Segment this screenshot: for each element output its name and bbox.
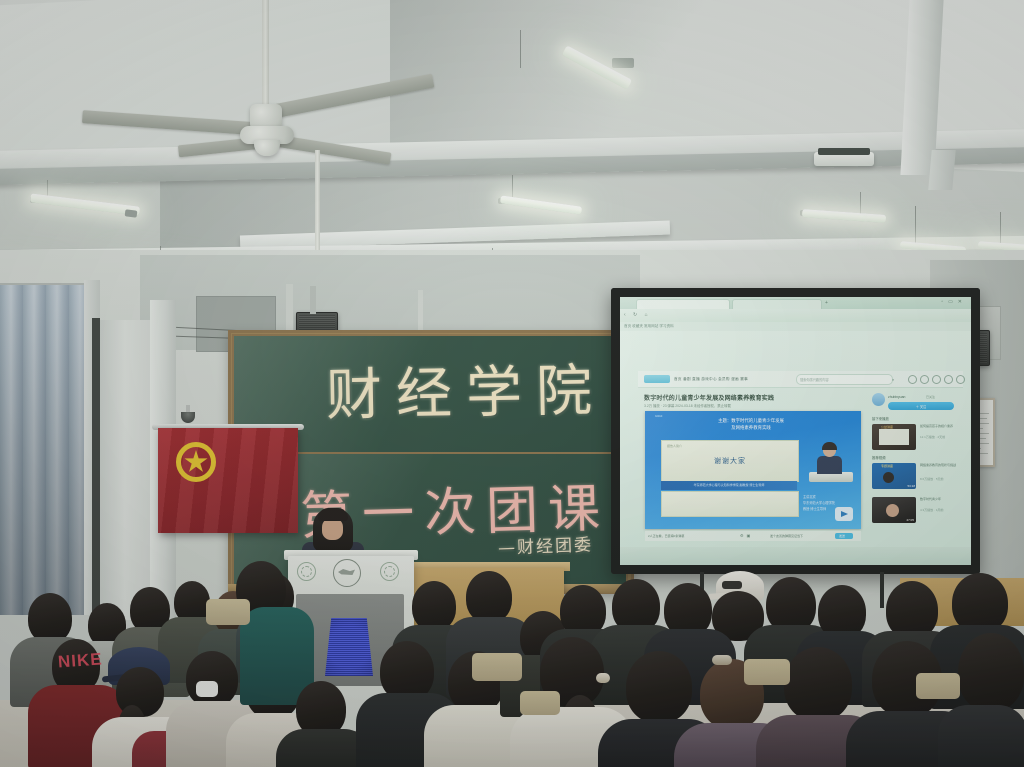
ceiling-panel-light-housing bbox=[818, 148, 870, 155]
audience-head bbox=[958, 633, 1024, 711]
presenter-face bbox=[322, 518, 343, 540]
bookmarks-text: 首页 收藏夹 常用网站 学习资料 bbox=[624, 324, 674, 329]
face-mask bbox=[196, 681, 218, 697]
bilibili-nav[interactable]: 首页 番剧 直播 游戏中心 会员购 漫画 赛事 bbox=[674, 377, 748, 382]
browser-tab-bar: + ▫▭✕ bbox=[620, 297, 971, 309]
cyl-flag bbox=[158, 428, 298, 533]
classroom-photo-scene: 使用须知 财经学院 第一次团课 —财经团委 bbox=[0, 0, 1024, 767]
audience-head bbox=[626, 651, 692, 723]
related-meta-1: 12.1万播放 · 2天前 bbox=[920, 435, 964, 439]
search-placeholder: 搜索你感兴趣的内容 bbox=[800, 377, 829, 382]
video-player[interactable]: bilibili 主题：数字时代的儿童青少年发展 及网络素养教育实践 报告人简介… bbox=[645, 411, 861, 529]
danmaku-settings-icon[interactable]: ⚙▣ bbox=[740, 533, 753, 538]
slide-speaker-photo bbox=[805, 441, 855, 491]
bookmarks-bar: 首页 收藏夹 常用网站 学习资料 bbox=[620, 322, 971, 331]
video-title: 数字时代的儿童青少年发展及网络素养教育实践 bbox=[644, 393, 774, 402]
hoodie-logo-text: NIKE bbox=[57, 649, 103, 672]
message-icon[interactable] bbox=[908, 375, 917, 384]
audience-head bbox=[412, 581, 456, 631]
favorites-icon[interactable] bbox=[932, 375, 941, 384]
audience-head bbox=[380, 641, 434, 701]
audience-head bbox=[466, 571, 512, 623]
related-meta-3: 4.3万播放 · 1周前 bbox=[920, 508, 964, 512]
uploader-avatar[interactable] bbox=[872, 393, 885, 406]
uploader-name[interactable]: zhubinyuan bbox=[888, 395, 905, 399]
chair-back bbox=[520, 691, 560, 715]
chair-back bbox=[206, 599, 250, 625]
upload-icon[interactable] bbox=[944, 375, 953, 384]
slide-topic-line1: 主题：数字时代的儿童青少年发展 bbox=[671, 418, 831, 425]
subscribe-button[interactable]: ＋ 关注 bbox=[888, 402, 954, 410]
new-tab-icon[interactable]: + bbox=[825, 300, 828, 306]
danmaku-input-placeholder[interactable]: 发个友善的弹幕见证当下 bbox=[770, 534, 803, 538]
audience-body bbox=[938, 705, 1024, 767]
nav-buttons[interactable]: ‹ ↻ ⌂ bbox=[624, 312, 651, 318]
presenter-fringe bbox=[318, 508, 348, 521]
ceiling-fan-rod bbox=[262, 0, 269, 107]
related-duration-2: 53:18 bbox=[907, 484, 915, 488]
history-icon[interactable] bbox=[920, 375, 929, 384]
hair-clip bbox=[712, 655, 732, 665]
related-thumbnail-3[interactable]: 27:05 bbox=[872, 497, 916, 523]
tube-cap bbox=[612, 58, 634, 68]
slide-speaker-caption-1: 主讲嘉宾 bbox=[803, 495, 816, 500]
light-wire bbox=[915, 206, 916, 246]
slide-card-tag: 报告人简介 bbox=[667, 444, 682, 448]
blackboard-heading: 财经学院 bbox=[325, 346, 606, 432]
sidebar-heading-2: 推荐视频 bbox=[872, 455, 886, 460]
player-control-bar[interactable]: 2人正在看，已装填0条弹幕 ⚙▣ 发个友善的弹幕见证当下 发送 bbox=[645, 530, 861, 541]
chair-back bbox=[744, 659, 790, 685]
audience-head bbox=[28, 593, 72, 643]
speaker-bracket bbox=[310, 286, 316, 314]
sidebar-heading-1: 接下来播放 bbox=[872, 416, 889, 421]
slide-thanks-text: 谢谢大家 bbox=[662, 456, 798, 466]
chair-back bbox=[472, 653, 522, 681]
send-label: 发送 bbox=[839, 534, 845, 538]
related-thumbnail-1[interactable]: 公益讲座 bbox=[872, 424, 916, 450]
cap-logo bbox=[722, 581, 742, 589]
cyl-emblem-icon bbox=[176, 442, 216, 482]
slide-footer-text: 华东师范大学心理与认知科学学院 副教授 博士生导师 bbox=[661, 483, 797, 487]
uploader-badge: 已关注 bbox=[926, 395, 935, 399]
chair-back bbox=[916, 673, 960, 699]
bilibili-logo-icon[interactable] bbox=[644, 375, 670, 383]
page-content: 首页 番剧 直播 游戏中心 会员购 漫画 赛事 搜索你感兴趣的内容 ⌕ 数字时代… bbox=[620, 331, 971, 547]
light-wire bbox=[520, 30, 521, 68]
subscribe-label: ＋ 关注 bbox=[888, 404, 954, 409]
slide-main-card: 报告人简介 谢谢大家 bbox=[661, 440, 799, 482]
audience-head bbox=[186, 651, 238, 707]
video-meta: 3.2万 播放 · 23 弹幕 2024-03-18 未经作者授权，禁止转载 bbox=[644, 403, 731, 408]
slide-header: bilibili 主题：数字时代的儿童青少年发展 及网络素养教育实践 bbox=[645, 411, 861, 437]
related-meta-2: 8.6万播放 · 5天前 bbox=[920, 477, 964, 481]
search-icon[interactable]: ⌕ bbox=[892, 377, 894, 382]
related-title-3[interactable]: 数字时代青少年 bbox=[920, 497, 964, 501]
slide-topic-line2: 及网络素养教育实践 bbox=[671, 425, 831, 432]
audience: NIKE bbox=[0, 555, 1024, 767]
slide-speaker-caption-3: 教授 博士生导师 bbox=[803, 507, 826, 512]
related-title-1[interactable]: 如何提高孩子的媒介素养 bbox=[920, 424, 964, 428]
profile-icon[interactable] bbox=[956, 375, 965, 384]
slide-secondary-card bbox=[661, 491, 799, 517]
slide-speaker-caption-2: 华东师范大学心理学院 bbox=[803, 501, 835, 506]
related-thumbnail-2[interactable]: 专题讲座 53:18 bbox=[872, 463, 916, 489]
video-sidebar: zhubinyuan 已关注 ＋ 关注 接下来播放 公益讲座 如何提高孩子的媒介… bbox=[868, 393, 963, 543]
display-screen[interactable]: + ▫▭✕ ‹ ↻ ⌂ www.bilibili.com ◍▣◉✚▢ ⤓↻⚙≡ … bbox=[620, 297, 971, 565]
slide-footer-bar: 华东师范大学心理与认知科学学院 副教授 博士生导师 bbox=[661, 481, 797, 490]
hair-scrunchie bbox=[596, 673, 610, 683]
danmaku-count: 2人正在看，已装填0条弹幕 bbox=[648, 534, 684, 538]
audience-head bbox=[952, 573, 1008, 633]
tube-cap bbox=[125, 209, 138, 217]
window-controls[interactable]: ▫▭✕ bbox=[941, 299, 967, 305]
play-icon bbox=[841, 511, 848, 517]
play-button[interactable] bbox=[835, 507, 853, 521]
slide-brand: bilibili bbox=[655, 414, 662, 418]
audience-head bbox=[784, 647, 852, 721]
related-title-2[interactable]: 网络素养教育的现状与挑战 bbox=[920, 463, 964, 467]
light-wire bbox=[1000, 212, 1001, 244]
browser-toolbar: ‹ ↻ ⌂ www.bilibili.com ◍▣◉✚▢ ⤓↻⚙≡ bbox=[620, 309, 971, 322]
ceiling-duct-lower bbox=[928, 150, 955, 190]
related-duration-3: 27:05 bbox=[906, 518, 914, 522]
